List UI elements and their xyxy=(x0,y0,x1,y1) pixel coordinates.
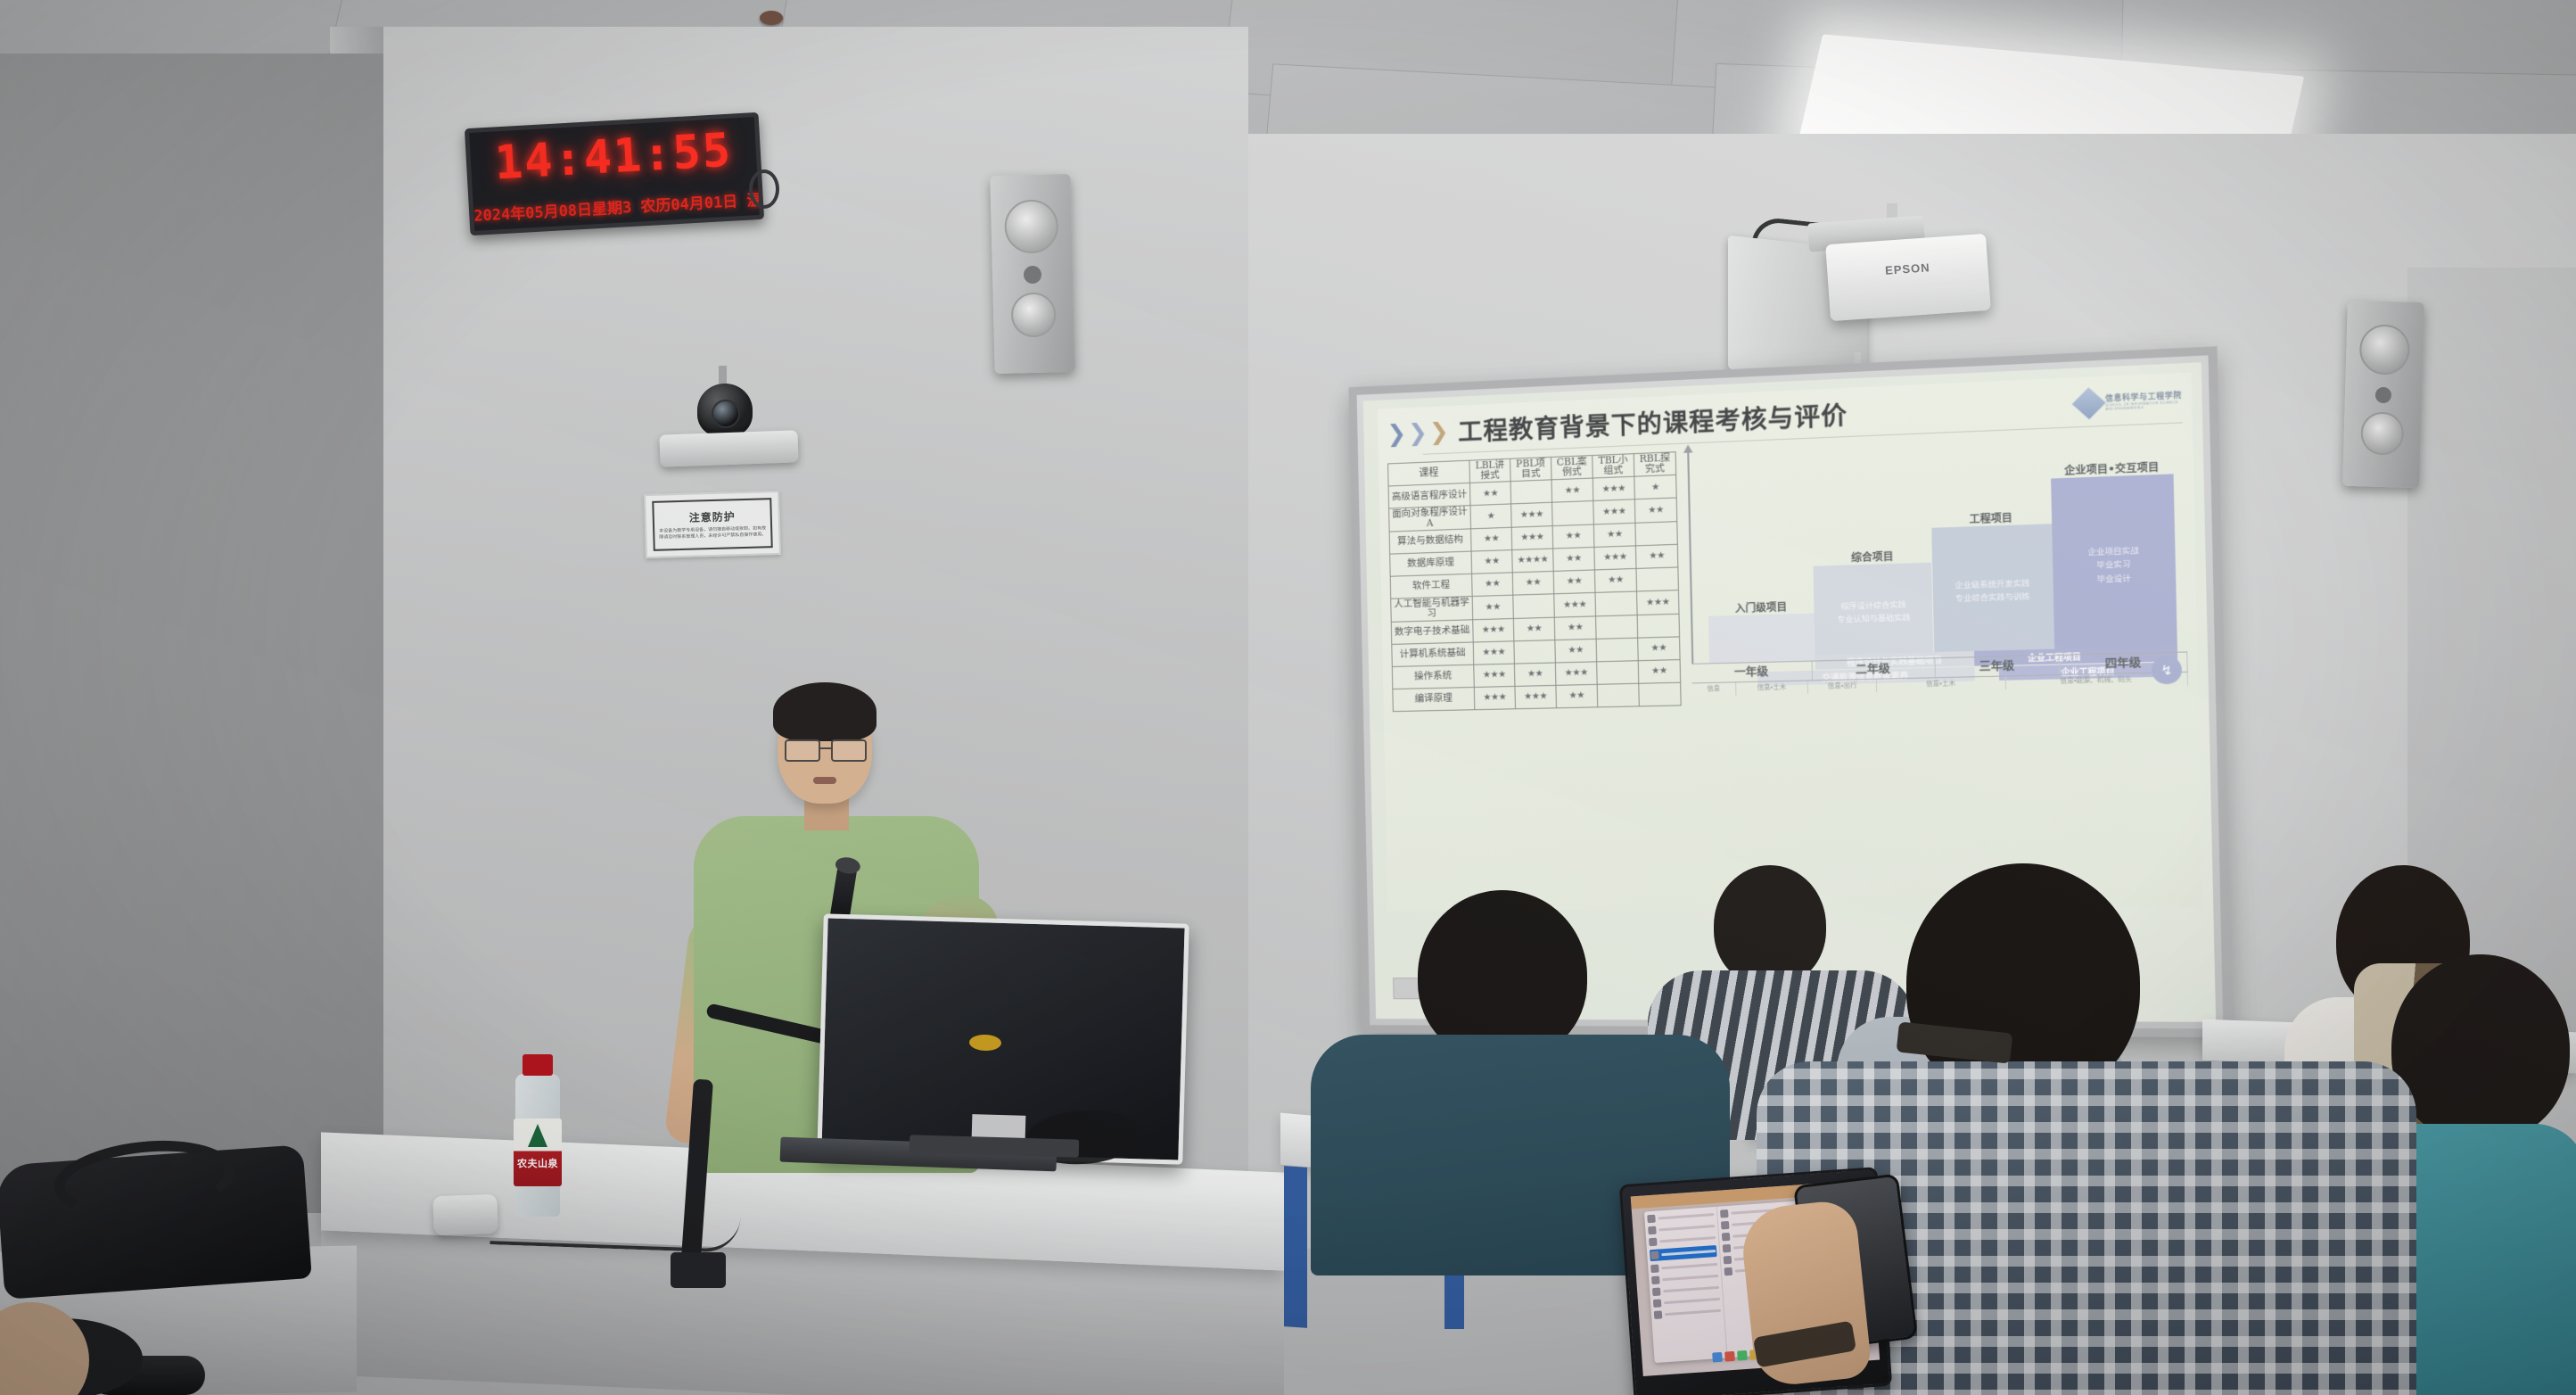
progression-step-item: 专业认知与基础实践 xyxy=(1837,611,1911,626)
progression-step: 入门级项目 xyxy=(1708,614,1816,664)
desk-leg xyxy=(1284,1166,1307,1328)
matrix-col-header: PBL项目式 xyxy=(1510,457,1551,481)
matrix-rating-cell xyxy=(1635,522,1677,546)
monitor-clamp xyxy=(671,1252,726,1288)
matrix-rating-cell: ★★★ xyxy=(1473,640,1514,664)
avatar xyxy=(1721,1233,1730,1242)
matrix-rating-cell: ★★ xyxy=(1554,615,1596,640)
glasses-icon xyxy=(785,739,867,759)
matrix-rating-cell xyxy=(1597,660,1639,684)
matrix-rating-cell: ★★★ xyxy=(1511,526,1552,550)
matrix-rating-cell: ★★ xyxy=(1513,617,1554,641)
warning-sign: 注意防护 本设备为教学专用设备，请勿擅自移动或拆卸。如有故障请及时联系管理人员，… xyxy=(644,491,781,558)
matrix-rating-cell: ★★★ xyxy=(1637,590,1679,615)
progression-step-label: 工程项目 xyxy=(1930,508,2051,530)
avatar xyxy=(1724,1267,1732,1276)
projector: EPSON xyxy=(1825,234,1991,321)
matrix-rating-cell: ★★ xyxy=(1634,498,1676,523)
matrix-col-header: CBL案例式 xyxy=(1551,456,1593,481)
avatar xyxy=(1723,1256,1732,1265)
matrix-col-header: TBL小组式 xyxy=(1593,454,1634,479)
chat-name-line xyxy=(1658,1213,1714,1219)
matrix-rating-cell: ★★ xyxy=(1594,568,1636,592)
matrix-rating-cell: ★★★ xyxy=(1511,502,1552,527)
matrix-rating-cell: ★★ xyxy=(1469,482,1510,506)
major-cell: 信息•出行 xyxy=(1808,680,1877,694)
chat-list-item[interactable] xyxy=(1647,1210,1714,1223)
chat-list-item[interactable] xyxy=(1648,1222,1715,1234)
chevron-right-icon: ❯❯❯ xyxy=(1387,419,1449,445)
matrix-rating-cell xyxy=(1636,567,1678,591)
matrix-course-name: 数据库原理 xyxy=(1390,551,1472,576)
project-progression-chart: 入门级项目综合项目程序设计综合实践专业认知与基础实践工程项目企业级系统开发实践专… xyxy=(1685,431,2188,697)
progression-step: 工程项目企业级系统开发实践专业综合实践与训练 xyxy=(1931,524,2054,657)
progression-step-item: 毕业实习 xyxy=(2096,557,2130,572)
chat-name-line xyxy=(1662,1275,1718,1281)
matrix-course-name: 面向对象程序设计A xyxy=(1389,506,1471,532)
warning-sign-body: 本设备为教学专用设备，请勿擅自移动或拆卸。如有故障请及时联系管理人员，未经许可严… xyxy=(654,525,770,541)
progression-step-label: 入门级项目 xyxy=(1708,598,1815,619)
grade-cell: 三年级 xyxy=(1935,656,2061,677)
matrix-course-name: 算法与数据结构 xyxy=(1389,529,1471,554)
chat-name-line xyxy=(1665,1309,1721,1316)
matrix-rating-cell: ★★★ xyxy=(1593,476,1634,500)
matrix-col-header: LBL讲授式 xyxy=(1469,458,1510,483)
matrix-rating-cell: ★★★ xyxy=(1515,685,1557,708)
matrix-rating-cell xyxy=(1596,615,1638,639)
matrix-rating-cell: ★★★ xyxy=(1594,546,1636,570)
avatar xyxy=(1720,1209,1729,1218)
table-microphone-puck xyxy=(432,1194,498,1235)
matrix-rating-cell: ★★ xyxy=(1593,523,1635,547)
matrix-rating-cell xyxy=(1637,614,1679,638)
conference-camera-head xyxy=(697,384,753,437)
matrix-course-name: 计算机系统基础 xyxy=(1392,642,1474,666)
attendee-head xyxy=(2391,954,2570,1142)
matrix-course-name: 高级语言程序设计 xyxy=(1388,483,1470,509)
dock-app-icon[interactable] xyxy=(1737,1350,1748,1360)
matrix-col-header: RBL探究式 xyxy=(1634,452,1675,477)
presenter-head xyxy=(778,691,872,804)
slide-title: 工程教育背景下的课程考核与评价 xyxy=(1458,395,1848,448)
clock-date: 2024年05月08日星期3 农历04月01日 温度29℃ xyxy=(473,187,760,226)
matrix-rating-cell: ★★★ xyxy=(1474,664,1515,687)
matrix-col-header: 课程 xyxy=(1388,460,1470,486)
warning-sign-title: 注意防护 xyxy=(689,508,736,524)
matrix-rating-cell xyxy=(1639,682,1681,706)
school-logo: 信息科学与工程学院 SCHOOL OF INFORMATION SCIENCE … xyxy=(2076,387,2182,415)
avatar xyxy=(1721,1221,1730,1230)
chat-list-item[interactable] xyxy=(1654,1307,1721,1319)
progression-step-item: 专业综合实践与训练 xyxy=(1955,590,2030,606)
avatar xyxy=(1651,1276,1660,1285)
wall-speaker-left xyxy=(990,174,1074,374)
chat-name-line xyxy=(1661,1250,1716,1256)
major-cell: 信息 xyxy=(1692,682,1736,696)
grade-cell: 二年级 xyxy=(1812,658,1935,680)
matrix-rating-cell xyxy=(1597,683,1639,707)
bottle-cap xyxy=(523,1054,553,1076)
matrix-rating-cell: ★★★★ xyxy=(1512,549,1553,573)
chat-name-line xyxy=(1661,1263,1717,1269)
matrix-rating-cell: ★★ xyxy=(1471,549,1512,574)
matrix-rating-cell: ★★ xyxy=(1471,527,1512,551)
avatar xyxy=(1652,1287,1661,1296)
matrix-course-name: 编译原理 xyxy=(1393,687,1475,711)
course-method-matrix: 课程LBL讲授式PBL项目式CBL案例式TBL小组式RBL探究式 高级语言程序设… xyxy=(1387,451,1682,711)
dock-app-icon[interactable] xyxy=(1712,1351,1723,1362)
matrix-course-name: 人工智能与机器学习 xyxy=(1391,596,1473,621)
presenter-mouth xyxy=(813,777,836,784)
matrix-rating-cell xyxy=(1596,638,1638,662)
avatar xyxy=(1653,1299,1662,1308)
chat-name-line xyxy=(1659,1236,1716,1242)
matrix-rating-cell: ★★ xyxy=(1552,524,1594,549)
chat-sidebar[interactable] xyxy=(1644,1207,1727,1363)
matrix-rating-cell: ★★★ xyxy=(1593,499,1635,524)
matrix-rating-cell: ★★★ xyxy=(1554,592,1596,616)
avatar xyxy=(1650,1265,1659,1274)
conference-camera-body xyxy=(659,430,798,466)
camera-lens-icon xyxy=(712,400,740,428)
chat-list-item[interactable] xyxy=(1652,1284,1719,1296)
matrix-rating-cell: ★★ xyxy=(1553,570,1595,594)
avatar xyxy=(1649,1238,1658,1247)
grade-cell: 一年级 xyxy=(1691,662,1812,683)
matrix-course-name: 数字电子技术基础 xyxy=(1391,619,1473,644)
chat-name-line xyxy=(1658,1225,1715,1231)
chart-y-axis xyxy=(1687,451,1693,664)
projector-brand-label: EPSON xyxy=(1885,260,1930,277)
logo-diamond-icon xyxy=(2071,387,2105,419)
matrix-rating-cell: ★★ xyxy=(1551,478,1593,502)
bottle-label: 农夫山泉 xyxy=(514,1118,562,1186)
bottle-brand-cn: 农夫山泉 xyxy=(514,1156,562,1170)
led-wall-clock: 14:41:55 2024年05月08日星期3 农历04月01日 温度29℃ xyxy=(465,112,764,235)
matrix-rating-cell: ★★ xyxy=(1635,544,1677,568)
chat-list-item[interactable] xyxy=(1649,1234,1716,1246)
matrix-rating-cell: ★★ xyxy=(1514,663,1555,686)
matrix-course-name: 软件工程 xyxy=(1390,574,1472,598)
matrix-rating-cell: ★★ xyxy=(1512,571,1553,595)
chat-name-line xyxy=(1664,1298,1720,1304)
mountain-tree-icon xyxy=(528,1124,547,1147)
water-bottle: 农夫山泉 xyxy=(510,1054,565,1217)
clock-time: 14:41:55 xyxy=(470,122,758,192)
matrix-rating-cell xyxy=(1514,640,1555,664)
clock-hook xyxy=(749,169,779,209)
avatar xyxy=(1647,1215,1656,1224)
matrix-rating-cell: ★★★ xyxy=(1555,661,1597,685)
progression-step: 企业项目•交互项目企业项目实战毕业实习毕业设计 xyxy=(2051,474,2177,655)
chat-list-item[interactable] xyxy=(1650,1260,1717,1273)
matrix-rating-cell: ★★ xyxy=(1472,595,1513,619)
avatar xyxy=(1722,1244,1731,1253)
matrix-rating-cell xyxy=(1513,594,1555,618)
avatar xyxy=(1654,1310,1663,1319)
avatar xyxy=(1650,1251,1659,1260)
presentation-slide: ❯❯❯ 工程教育背景下的课程考核与评价 信息科学与工程学院 SCHOOL OF … xyxy=(1378,372,2203,911)
matrix-rating-cell: ★★★ xyxy=(1473,618,1514,642)
matrix-rating-cell: ★ xyxy=(1470,504,1511,529)
matrix-rating-cell: ★★★ xyxy=(1474,686,1515,709)
chat-list-item[interactable] xyxy=(1651,1272,1718,1284)
dock-app-icon[interactable] xyxy=(1724,1350,1735,1361)
progression-step-item: 毕业设计 xyxy=(2096,571,2130,585)
smoke-detector xyxy=(760,11,783,25)
matrix-rating-cell xyxy=(1552,501,1594,526)
wall-speaker-right xyxy=(2342,301,2424,488)
progression-step: 综合项目程序设计综合实践专业认知与基础实践 xyxy=(1814,563,1934,661)
progression-step-label: 综合项目 xyxy=(1814,548,1932,569)
wall-left xyxy=(0,54,383,1213)
chat-list-item[interactable] xyxy=(1650,1245,1716,1261)
matrix-rating-cell: ★ xyxy=(1634,475,1676,499)
matrix-rating-cell: ★★ xyxy=(1638,659,1680,683)
chat-list-item[interactable] xyxy=(1653,1295,1720,1308)
progression-step-item: 企业项目实战 xyxy=(2087,543,2138,558)
matrix-rating-cell xyxy=(1510,480,1551,504)
presenter-hair xyxy=(773,682,876,741)
matrix-rating-cell xyxy=(1595,591,1637,616)
classroom-photo: 14:41:55 2024年05月08日星期3 农历04月01日 温度29℃ 注… xyxy=(0,0,2576,1395)
matrix-rating-cell: ★★ xyxy=(1555,639,1597,663)
matrix-rating-cell: ★★ xyxy=(1638,636,1680,660)
progression-step-label: 企业项目•交互项目 xyxy=(2050,458,2173,481)
matrix-rating-cell: ★★ xyxy=(1472,573,1513,597)
major-cell: 信息•土木 xyxy=(1877,676,2006,692)
matrix-rating-cell: ★★ xyxy=(1556,684,1598,707)
matrix-rating-cell: ★★ xyxy=(1553,547,1595,571)
chat-name-line xyxy=(1663,1286,1719,1292)
avatar xyxy=(1648,1226,1657,1235)
major-cell: 信息•土木 xyxy=(1736,681,1809,695)
matrix-course-name: 操作系统 xyxy=(1392,664,1474,689)
